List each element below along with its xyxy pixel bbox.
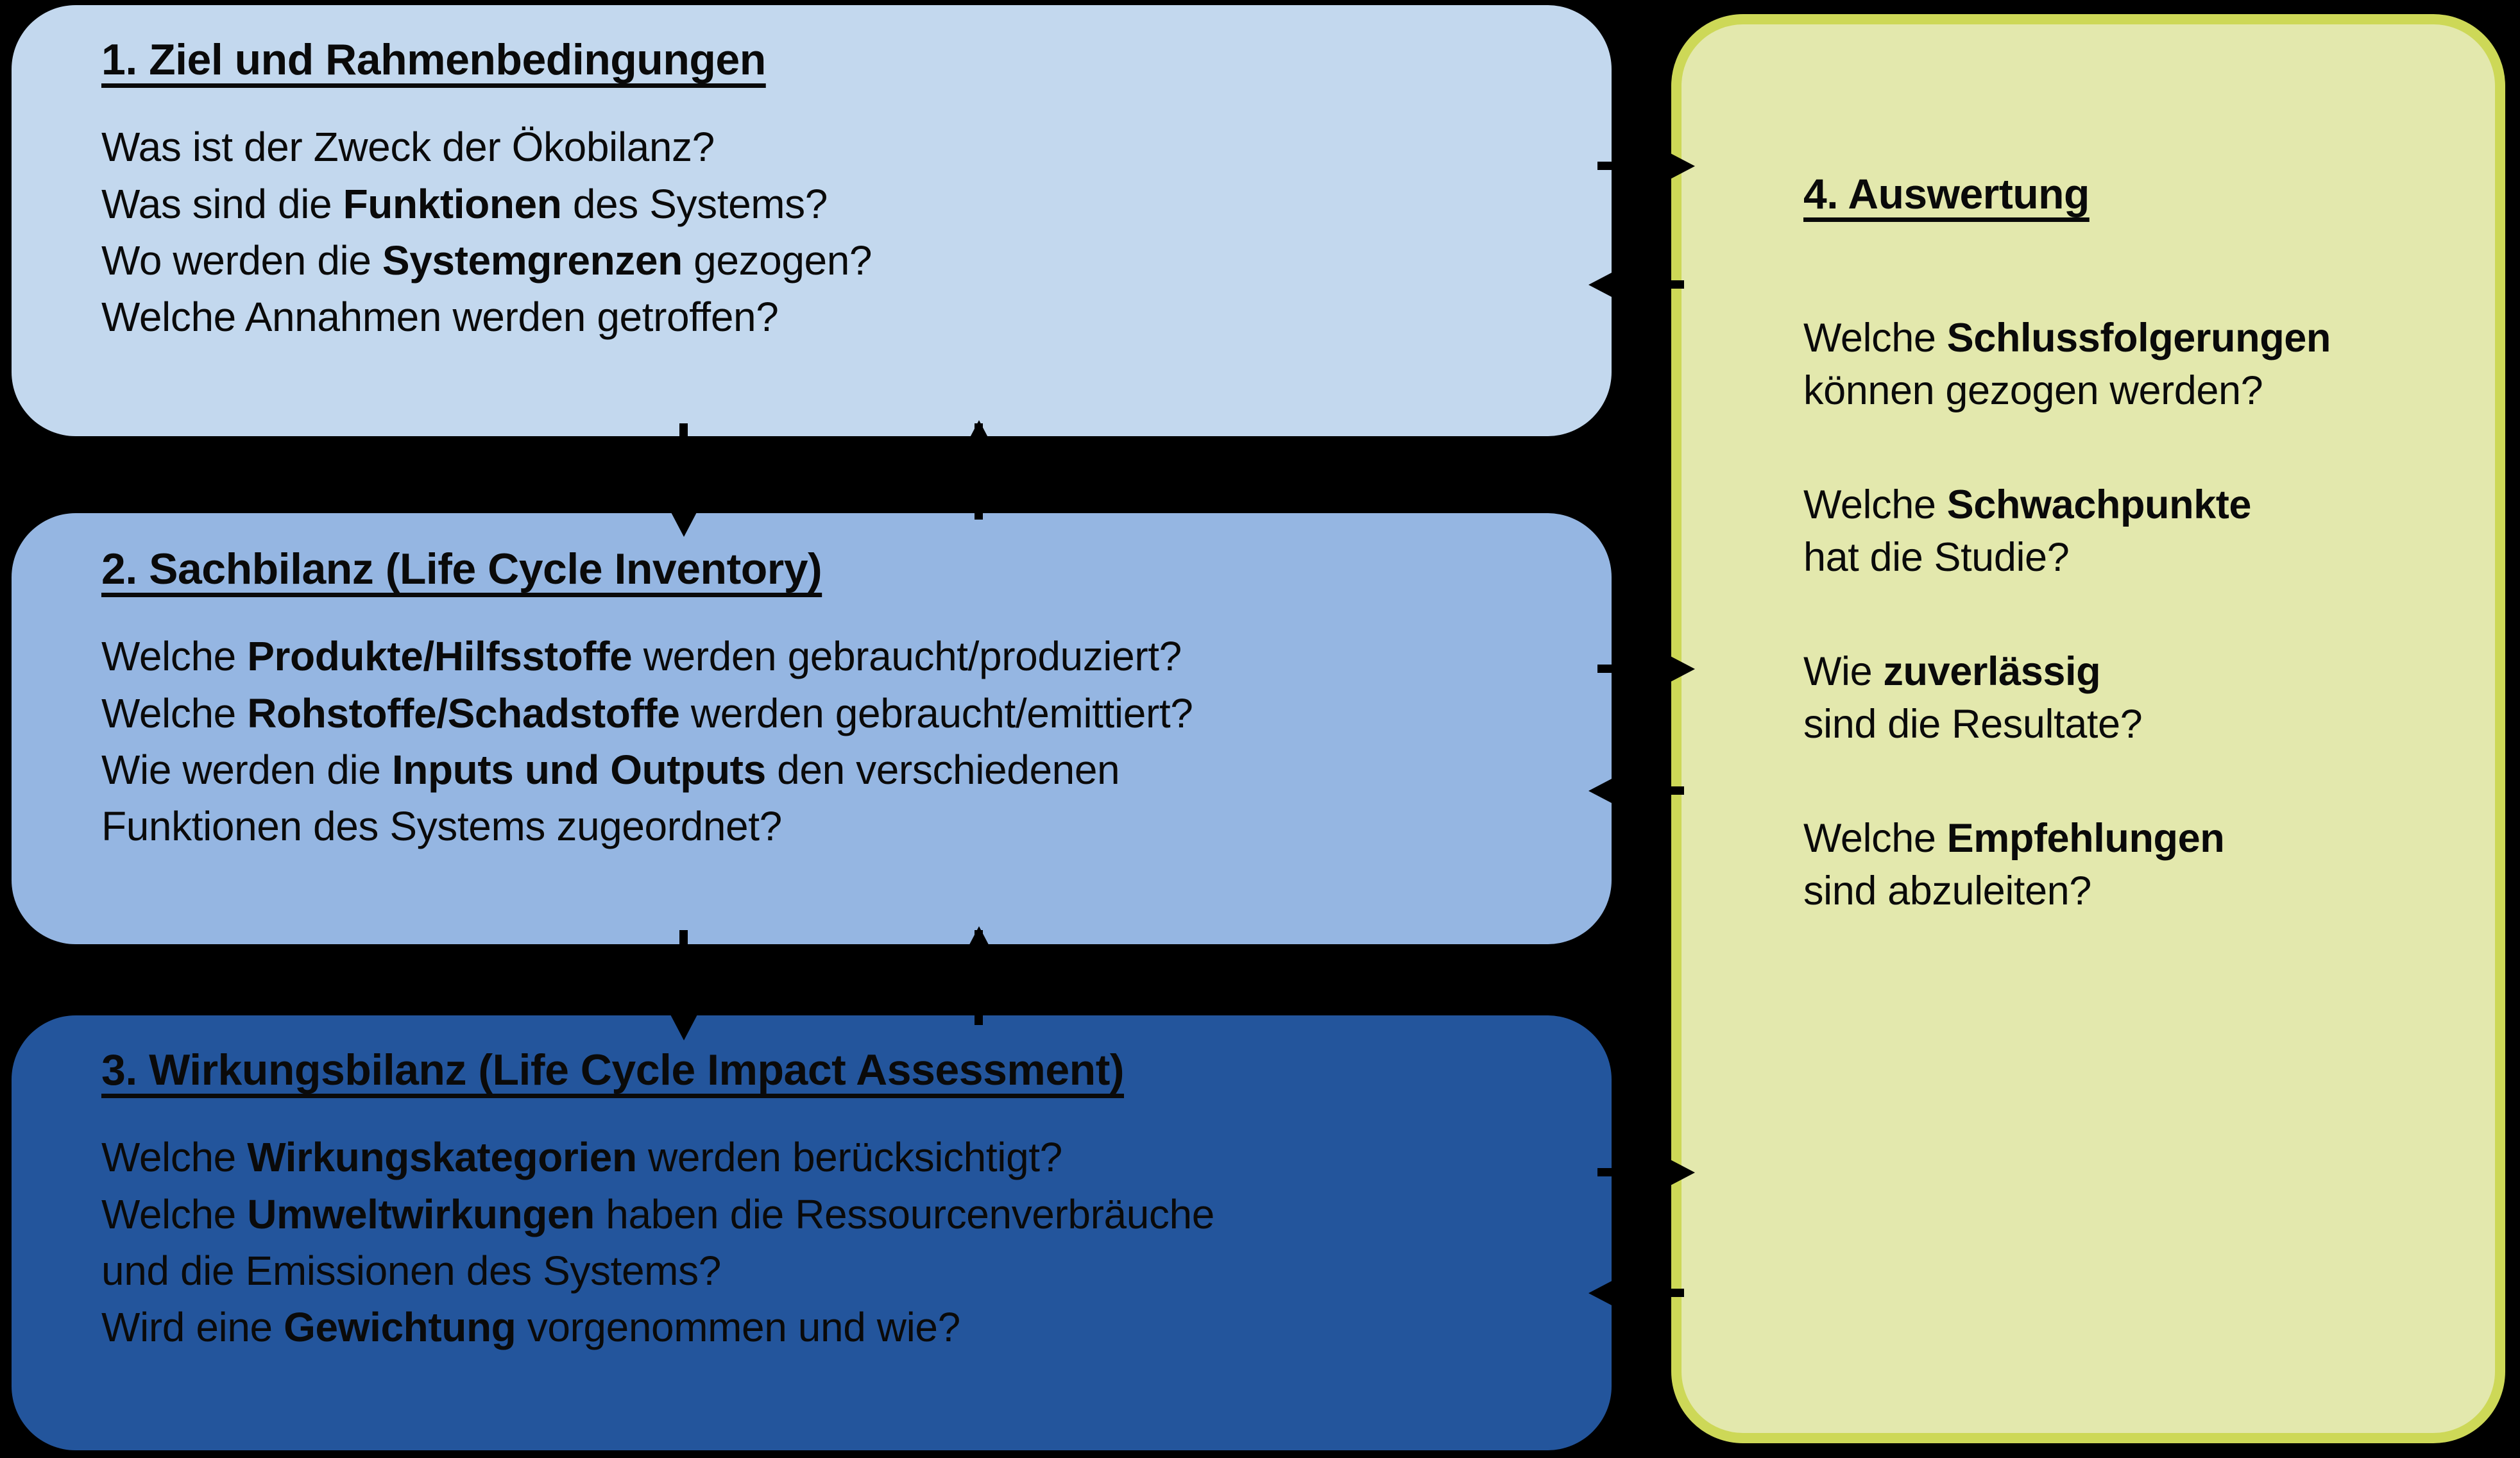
plain-text: haben die Ressourcenverbräuche xyxy=(595,1191,1214,1237)
arrow-box4-to-box2-head xyxy=(1588,777,1615,805)
plain-text: hat die Studie? xyxy=(1803,535,2069,580)
emphasis-term: Inputs und Outputs xyxy=(392,747,766,793)
plain-text: Wie xyxy=(1803,649,1883,694)
phase-box-sachbilanz: 2. Sachbilanz (Life Cycle Inventory) Wel… xyxy=(12,513,1612,944)
emphasis-term: Funktionen xyxy=(343,181,562,227)
phase-box-4-groups: Welche Schlussfolgerungenkönnen gezogen … xyxy=(1803,312,2456,917)
phase-box-3-content: 3. Wirkungsbilanz (Life Cycle Impact Ass… xyxy=(101,1047,1567,1356)
phase-box-1-lines: Was ist der Zweck der Ökobilanz?Was sind… xyxy=(101,119,1567,345)
question-line: Wird eine Gewichtung vorgenommen und wie… xyxy=(101,1299,1567,1355)
plain-text: Welche xyxy=(101,633,247,679)
plain-text: gezogen? xyxy=(683,237,872,284)
plain-text: Wie werden die xyxy=(101,747,392,793)
emphasis-term: zuverlässig xyxy=(1883,649,2100,694)
plain-text: sind die Resultate? xyxy=(1803,702,2142,747)
question-line: Welche Rohstoffe/Schadstoffe werden gebr… xyxy=(101,685,1567,742)
phase-box-ziel-und-rahmenbedingungen: 1. Ziel und Rahmenbedingungen Was ist de… xyxy=(12,5,1612,436)
question-line: sind die Resultate? xyxy=(1803,699,2456,751)
plain-text: Funktionen des Systems zugeordnet? xyxy=(101,803,782,849)
question-line: Was sind die Funktionen des Systems? xyxy=(101,176,1567,232)
question-group: Wie zuverlässigsind die Resultate? xyxy=(1803,646,2456,751)
phase-box-1-heading: 1. Ziel und Rahmenbedingungen xyxy=(101,37,1567,83)
question-group: Welche Schlussfolgerungenkönnen gezogen … xyxy=(1803,312,2456,418)
plain-text: Was ist der Zweck der Ökobilanz? xyxy=(101,124,715,170)
question-line: Funktionen des Systems zugeordnet? xyxy=(101,798,1567,854)
emphasis-term: Systemgrenzen xyxy=(382,237,683,284)
arrow-box4-to-box1-head xyxy=(1588,271,1615,299)
plain-text: des Systems? xyxy=(561,181,828,227)
plain-text: Wird eine xyxy=(101,1304,284,1350)
emphasis-term: Produkte/Hilfsstoffe xyxy=(247,633,632,679)
plain-text: und die Emissionen des Systems? xyxy=(101,1248,721,1294)
question-line: Welche Wirkungskategorien werden berücks… xyxy=(101,1129,1567,1185)
question-line: Welche Schlussfolgerungen xyxy=(1803,312,2456,365)
emphasis-term: Schlussfolgerungen xyxy=(1947,316,2331,360)
plain-text: sind abzuleiten? xyxy=(1803,869,2091,913)
emphasis-term: Schwachpunkte xyxy=(1947,482,2251,527)
phase-box-2-content: 2. Sachbilanz (Life Cycle Inventory) Wel… xyxy=(101,547,1567,855)
plain-text: Welche xyxy=(1803,316,1947,360)
plain-text: werden gebraucht/emittiert? xyxy=(680,690,1193,736)
phase-box-1-content: 1. Ziel und Rahmenbedingungen Was ist de… xyxy=(101,37,1567,346)
phase-box-auswertung: 4. Auswertung Welche Schlussfolgerungenk… xyxy=(1671,14,2505,1443)
plain-text: Welche xyxy=(101,1134,247,1180)
emphasis-term: Umweltwirkungen xyxy=(247,1191,595,1237)
arrow-box4-to-box3-head xyxy=(1588,1279,1615,1307)
question-line: Welche Schwachpunkte xyxy=(1803,479,2456,532)
question-line: Was ist der Zweck der Ökobilanz? xyxy=(101,119,1567,175)
emphasis-term: Empfehlungen xyxy=(1947,816,2225,861)
plain-text: den verschiedenen xyxy=(766,747,1120,793)
phase-box-2-heading: 2. Sachbilanz (Life Cycle Inventory) xyxy=(101,547,1567,592)
question-line: Welche Empfehlungen xyxy=(1803,813,2456,865)
arrow-box1-to-box2-shaft xyxy=(679,423,688,520)
plain-text: Welche xyxy=(1803,816,1947,861)
plain-text: Was sind die xyxy=(101,181,343,227)
plain-text: Welche xyxy=(101,1191,247,1237)
question-line: können gezogen werden? xyxy=(1803,365,2456,418)
arrow-box2-to-box1-head xyxy=(965,420,993,447)
question-group: Welche Empfehlungensind abzuleiten? xyxy=(1803,813,2456,918)
question-line: sind abzuleiten? xyxy=(1803,865,2456,918)
question-line: Welche Umweltwirkungen haben die Ressour… xyxy=(101,1186,1567,1242)
question-line: hat die Studie? xyxy=(1803,532,2456,584)
arrow-box1-to-box4-head xyxy=(1668,152,1695,180)
arrow-box2-to-box3-head xyxy=(670,1013,698,1040)
question-line: Wo werden die Systemgrenzen gezogen? xyxy=(101,232,1567,289)
question-line: Wie zuverlässig xyxy=(1803,646,2456,699)
phase-box-3-heading: 3. Wirkungsbilanz (Life Cycle Impact Ass… xyxy=(101,1047,1567,1093)
question-line: und die Emissionen des Systems? xyxy=(101,1242,1567,1299)
phase-box-3-lines: Welche Wirkungskategorien werden berücks… xyxy=(101,1129,1567,1355)
plain-text: werden gebraucht/produziert? xyxy=(632,633,1182,679)
arrow-box2-to-box4-head xyxy=(1668,655,1695,683)
arrow-box2-to-box3-shaft xyxy=(679,930,688,1025)
plain-text: Wo werden die xyxy=(101,237,382,284)
plain-text: vorgenommen und wie? xyxy=(516,1304,960,1350)
question-line: Welche Produkte/Hilfsstoffe werden gebra… xyxy=(101,628,1567,684)
arrow-box3-to-box2-head xyxy=(965,926,993,953)
plain-text: Welche xyxy=(1803,482,1947,527)
phase-box-2-lines: Welche Produkte/Hilfsstoffe werden gebra… xyxy=(101,628,1567,854)
emphasis-term: Wirkungskategorien xyxy=(247,1134,636,1180)
emphasis-term: Rohstoffe/Schadstoffe xyxy=(247,690,679,736)
phase-box-wirkungsbilanz: 3. Wirkungsbilanz (Life Cycle Impact Ass… xyxy=(12,1015,1612,1450)
emphasis-term: Gewichtung xyxy=(284,1304,516,1350)
arrow-box3-to-box4-head xyxy=(1668,1158,1695,1187)
plain-text: Welche xyxy=(101,690,247,736)
plain-text: können gezogen werden? xyxy=(1803,368,2263,413)
phase-box-4-heading: 4. Auswertung xyxy=(1803,172,2456,216)
plain-text: Welche Annahmen werden getroffen? xyxy=(101,294,778,340)
question-line: Wie werden die Inputs und Outputs den ve… xyxy=(101,742,1567,798)
plain-text: werden berücksichtigt? xyxy=(637,1134,1062,1180)
phase-box-4-content: 4. Auswertung Welche Schlussfolgerungenk… xyxy=(1803,172,2456,917)
question-group: Welche Schwachpunktehat die Studie? xyxy=(1803,479,2456,584)
arrow-box1-to-box2-head xyxy=(670,510,698,537)
question-line: Welche Annahmen werden getroffen? xyxy=(101,289,1567,345)
